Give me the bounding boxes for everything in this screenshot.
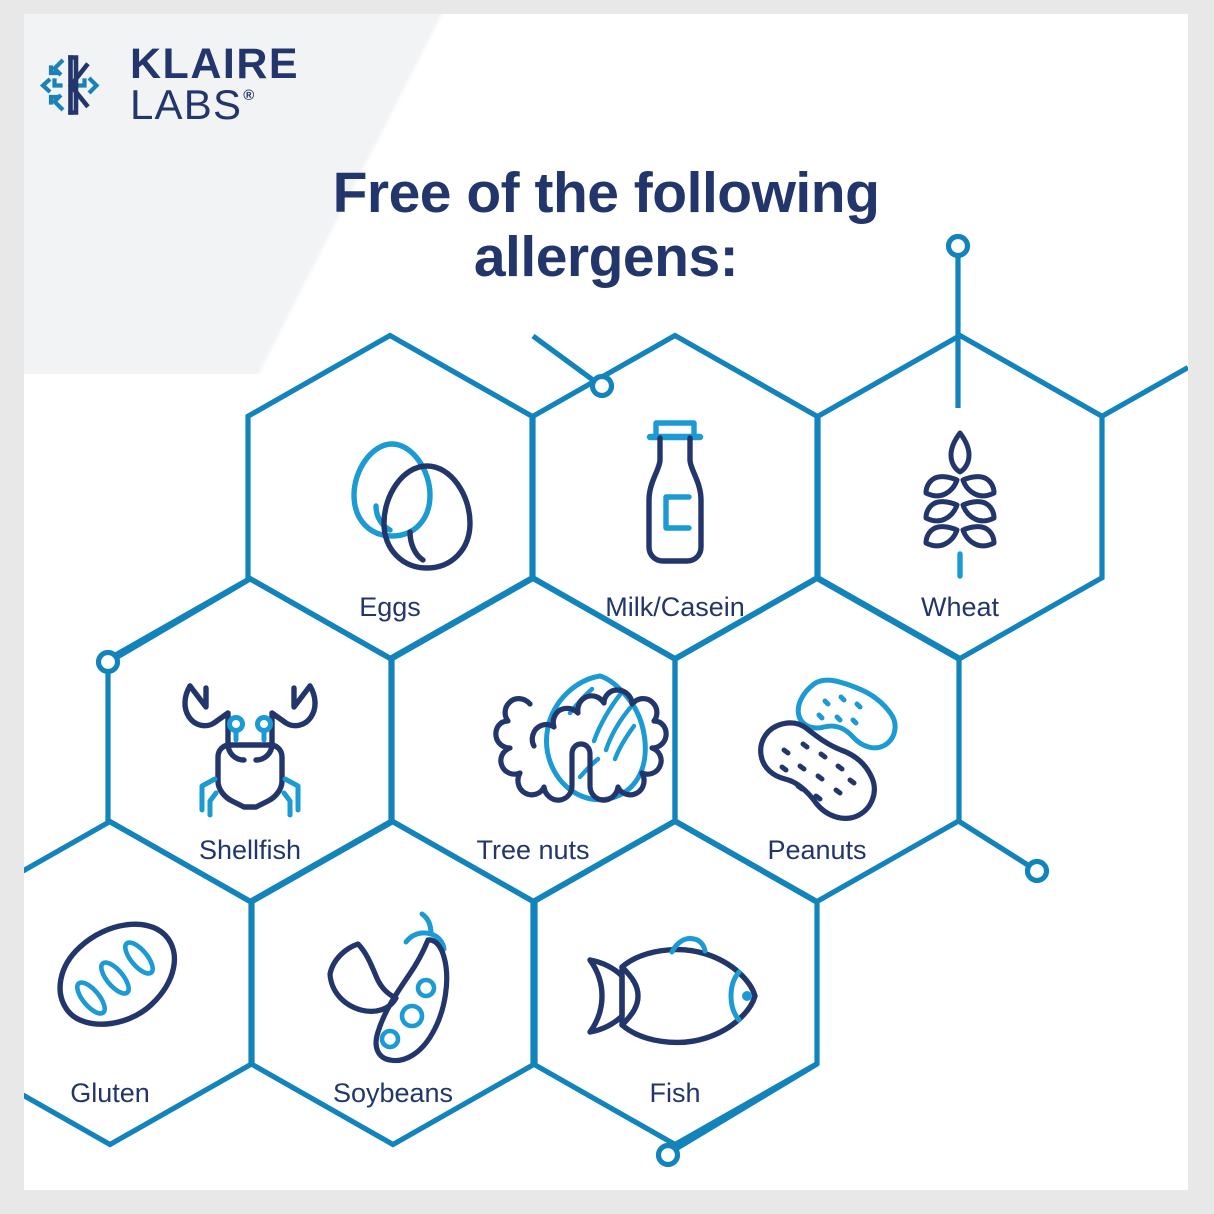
hex-label-soybeans: Soybeans — [333, 1078, 453, 1108]
connector-node-left — [99, 653, 118, 672]
hex-label-milk-casein: Milk/Casein — [605, 592, 745, 622]
walnut-almond-icon — [496, 676, 666, 800]
connector-node-top-right — [949, 237, 968, 256]
pea-pod-icon — [330, 914, 447, 1061]
milk-bottle-icon — [649, 423, 701, 561]
hex-label-peanuts: Peanuts — [767, 835, 866, 865]
hex-label-fish: Fish — [649, 1078, 700, 1108]
hex-label-gluten: Gluten — [70, 1078, 150, 1108]
connector-line-right — [960, 822, 1031, 867]
connector-node-bottom — [659, 1146, 678, 1165]
connector-node-eggs-right — [593, 377, 612, 396]
hex-label-shellfish: Shellfish — [199, 835, 301, 865]
crab-icon — [185, 686, 315, 815]
bread-loaf-icon — [60, 924, 174, 1024]
hex-label-wheat: Wheat — [921, 592, 1000, 622]
eggs-icon — [354, 444, 470, 568]
hex-edge-offcanvas-right — [1102, 368, 1188, 417]
white-card: KLAIRE LABS ® Free of the following alle… — [24, 14, 1188, 1190]
poster-canvas: KLAIRE LABS ® Free of the following alle… — [0, 0, 1214, 1214]
peanut-icon — [761, 680, 895, 818]
wheat-icon — [926, 433, 994, 546]
connector-node-right — [1028, 862, 1047, 881]
hex-label-tree-nuts: Tree nuts — [476, 835, 589, 865]
fish-icon — [590, 939, 755, 1043]
allergen-hex-grid: Eggs Milk/Casein Wheat Shellfish Tree nu… — [24, 14, 1188, 1190]
hex-label-eggs: Eggs — [359, 592, 421, 622]
connector-line-eggs-right — [533, 336, 597, 383]
